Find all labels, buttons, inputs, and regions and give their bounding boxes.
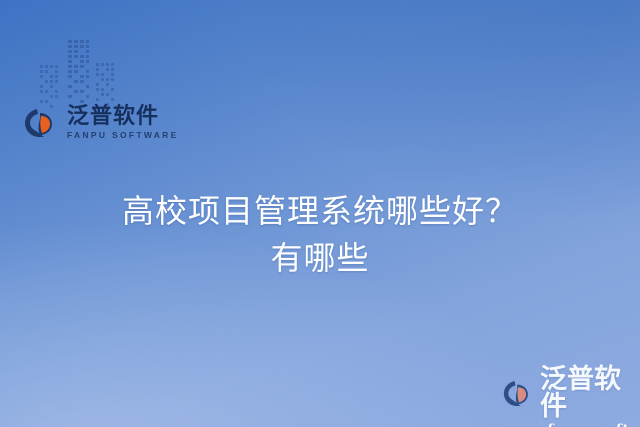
- watermark: 泛普软件 www.fanpusoft.com: [503, 366, 637, 427]
- page-title-line-1: 高校项目管理系统哪些好？: [0, 188, 640, 235]
- fanpu-watermark-logo-icon: [503, 379, 535, 408]
- pixel-skyline-artwork: [34, 30, 128, 110]
- fanpu-logo-mark-icon: [24, 107, 60, 139]
- brand-name-cn: 泛普软件: [67, 106, 179, 128]
- page-title-line-2: 有哪些: [0, 235, 640, 282]
- watermark-url: www.fanpusoft.com: [504, 421, 637, 427]
- page-title: 高校项目管理系统哪些好？ 有哪些: [0, 188, 640, 283]
- brand-name-en: FANPU SOFTWARE: [67, 131, 179, 140]
- poster-canvas: 泛普软件 FANPU SOFTWARE 高校项目管理系统哪些好？ 有哪些 泛普软…: [0, 0, 640, 427]
- watermark-name-cn: 泛普软件: [540, 366, 637, 420]
- brand-wordmark: 泛普软件 FANPU SOFTWARE: [67, 106, 179, 140]
- brand-lockup: 泛普软件 FANPU SOFTWARE: [24, 106, 179, 140]
- watermark-logo-row: 泛普软件: [503, 366, 637, 420]
